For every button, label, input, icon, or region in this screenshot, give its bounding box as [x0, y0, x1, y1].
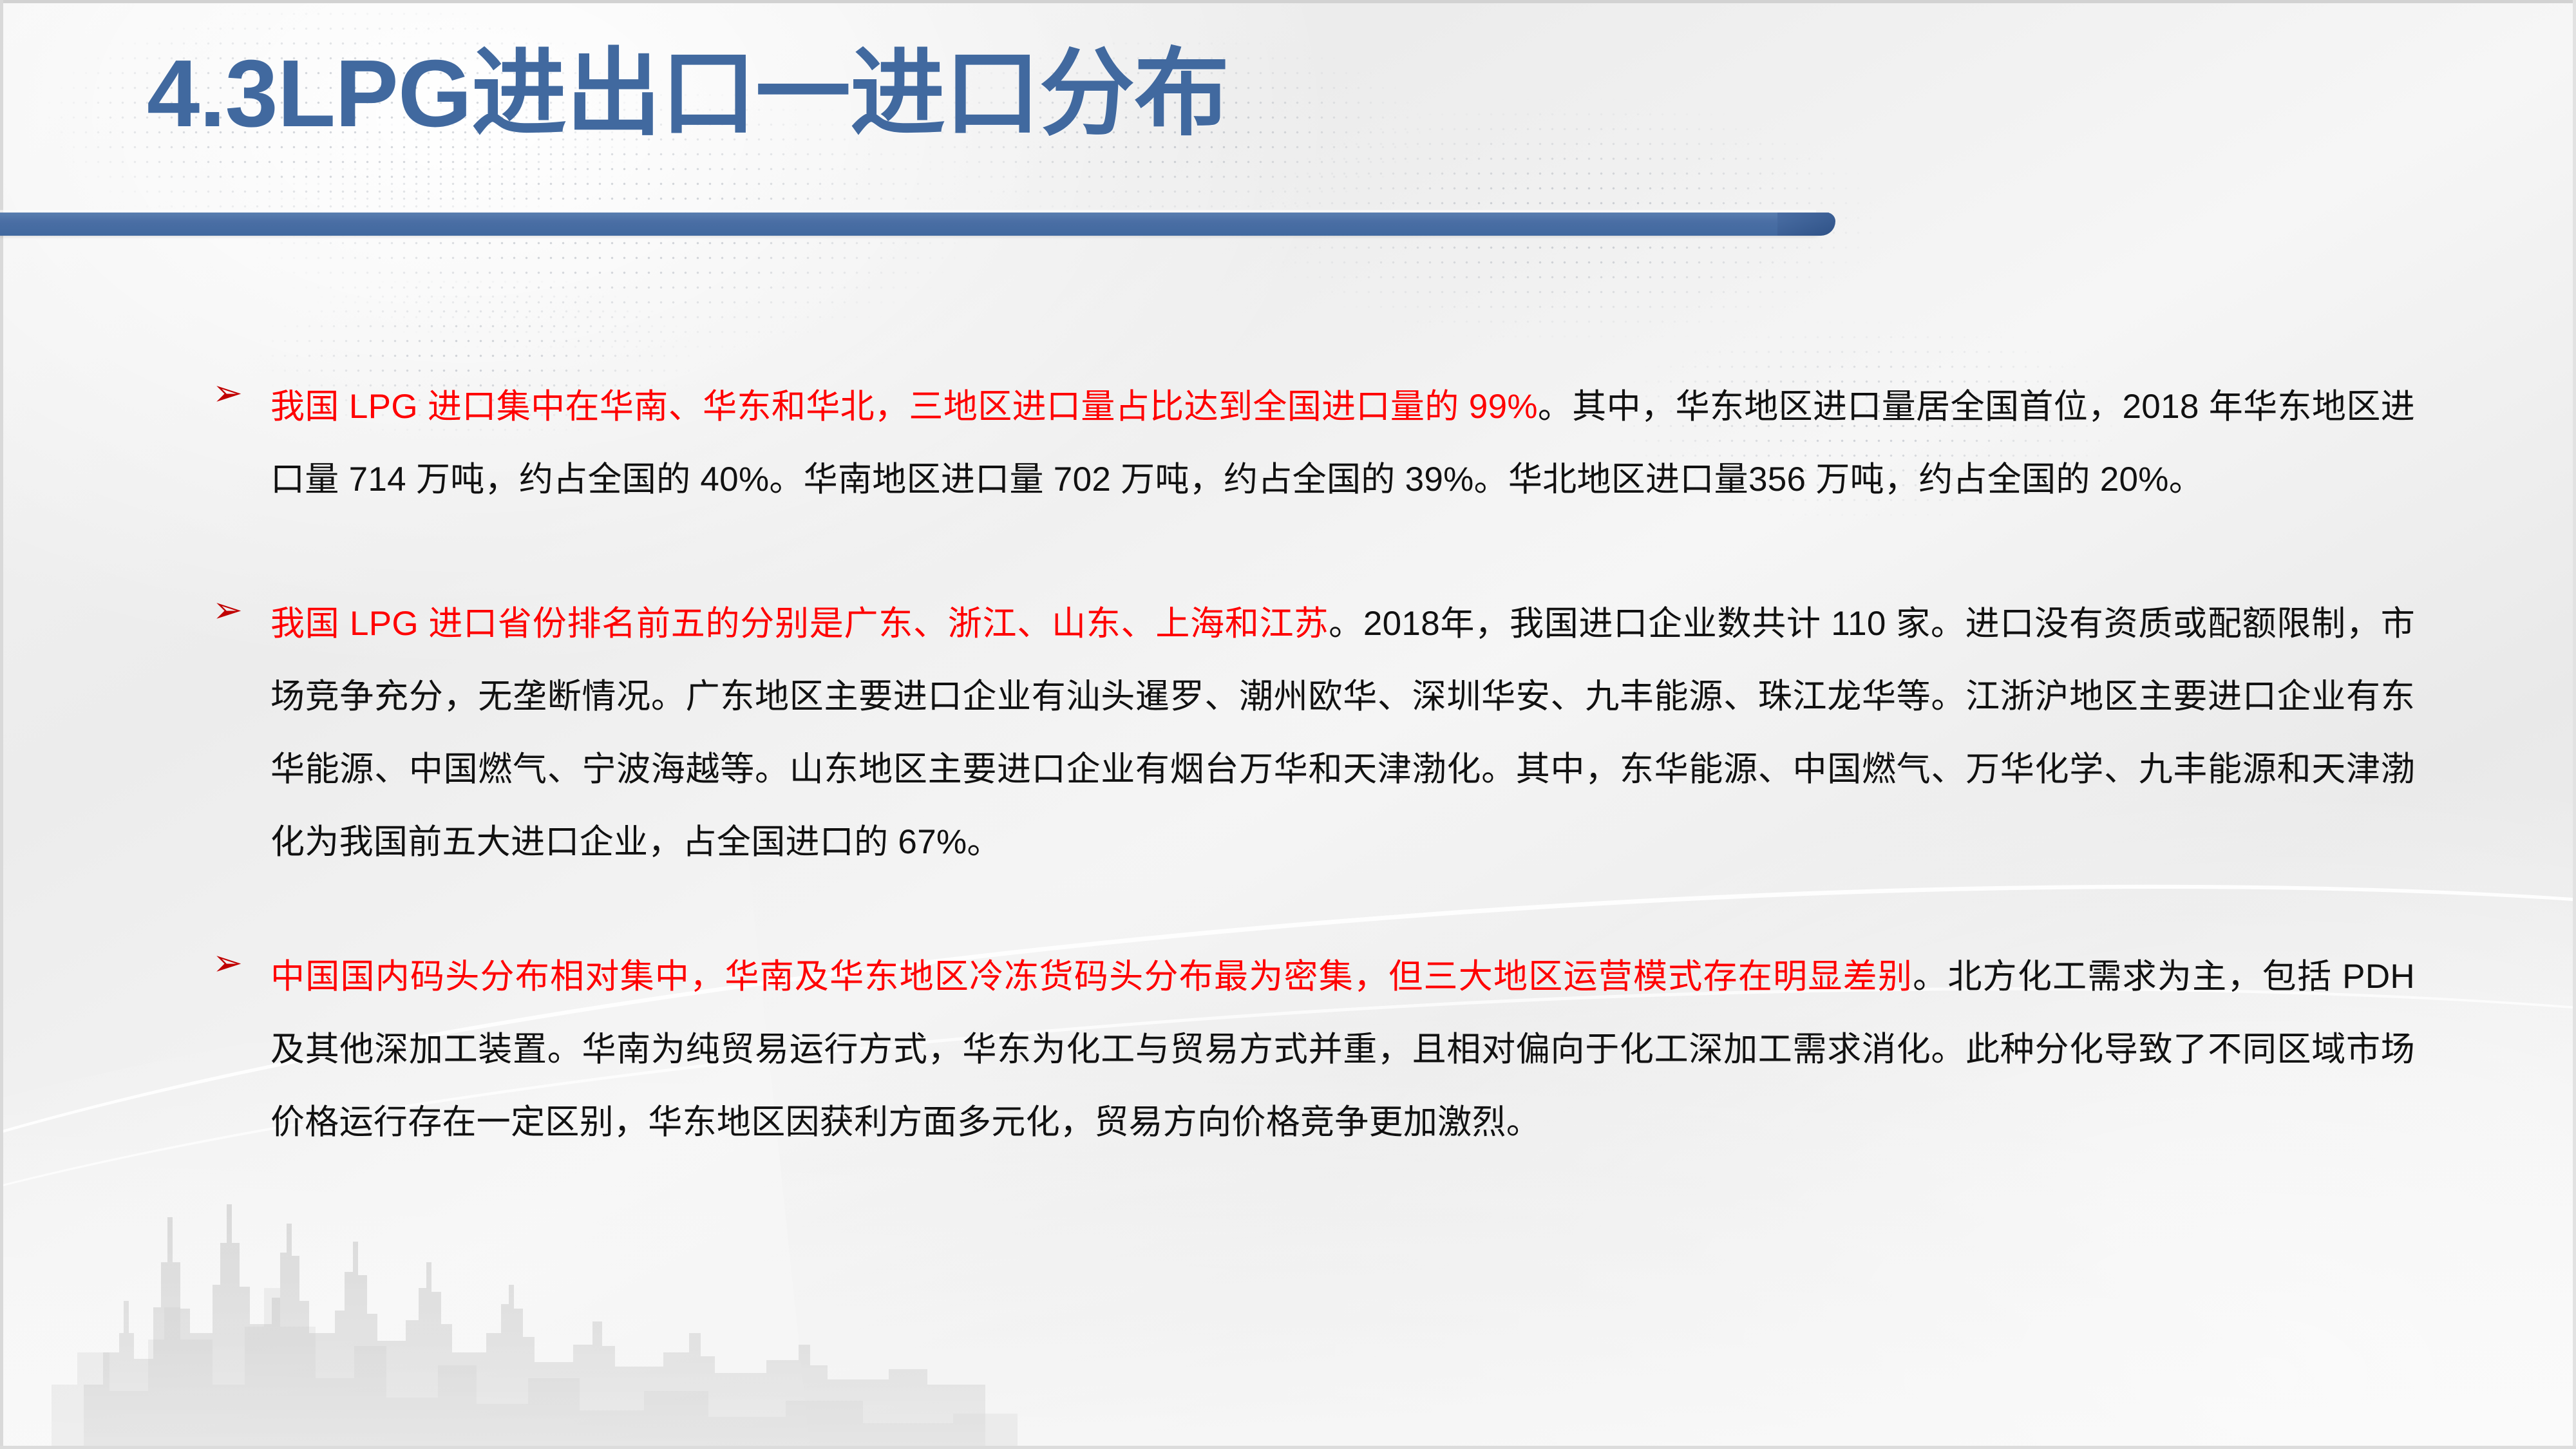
- bullet-item: ➢ 我国 LPG 进口集中在华南、华东和华北，三地区进口量占比达到全国进口量的 …: [213, 370, 2415, 516]
- page-title: 4.3LPG进出口一进口分布: [147, 46, 1229, 142]
- bullet-highlight-text: 我国 LPG 进口省份排名前五的分别是广东、浙江、山东、上海和江苏: [270, 605, 1329, 643]
- arrow-bullet-icon: ➢: [213, 951, 242, 980]
- slide-header: 4.3LPG进出口一进口分布: [0, 0, 2576, 245]
- slide-canvas: 4.3LPG进出口一进口分布 ➢ 我国 LPG 进口集中在华南、华东和华北，三地…: [0, 0, 2576, 1449]
- bullet-paragraph: 我国 LPG 进口省份排名前五的分别是广东、浙江、山东、上海和江苏。2018年，…: [270, 587, 2415, 878]
- title-accent-bar-cap: [1777, 213, 1835, 236]
- bullet-highlight-text: 我国 LPG 进口集中在华南、华东和华北，三地区进口量占比达到全国进口量的 99…: [270, 388, 1538, 426]
- bullet-paragraph: 我国 LPG 进口集中在华南、华东和华北，三地区进口量占比达到全国进口量的 99…: [270, 370, 2415, 516]
- bullet-item: ➢ 中国国内码头分布相对集中，华南及华东地区冷冻货码头分布最为密集，但三大地区运…: [213, 940, 2415, 1159]
- bullet-body-text: 。2018年，我国进口企业数共计 110 家。进口没有资质或配额限制，市场竞争充…: [270, 605, 2415, 861]
- bullet-item: ➢ 我国 LPG 进口省份排名前五的分别是广东、浙江、山东、上海和江苏。2018…: [213, 587, 2415, 878]
- bullet-highlight-text: 中国国内码头分布相对集中，华南及华东地区冷冻货码头分布最为密集，但三大地区运营模…: [270, 958, 1913, 996]
- slide-body: ➢ 我国 LPG 进口集中在华南、华东和华北，三地区进口量占比达到全国进口量的 …: [0, 277, 2576, 1243]
- slide-border-bottom: [0, 1446, 2576, 1449]
- arrow-bullet-icon: ➢: [213, 381, 242, 410]
- arrow-bullet-icon: ➢: [213, 598, 242, 627]
- bullet-paragraph: 中国国内码头分布相对集中，华南及华东地区冷冻货码头分布最为密集，但三大地区运营模…: [270, 940, 2415, 1159]
- title-accent-bar: [0, 213, 1829, 236]
